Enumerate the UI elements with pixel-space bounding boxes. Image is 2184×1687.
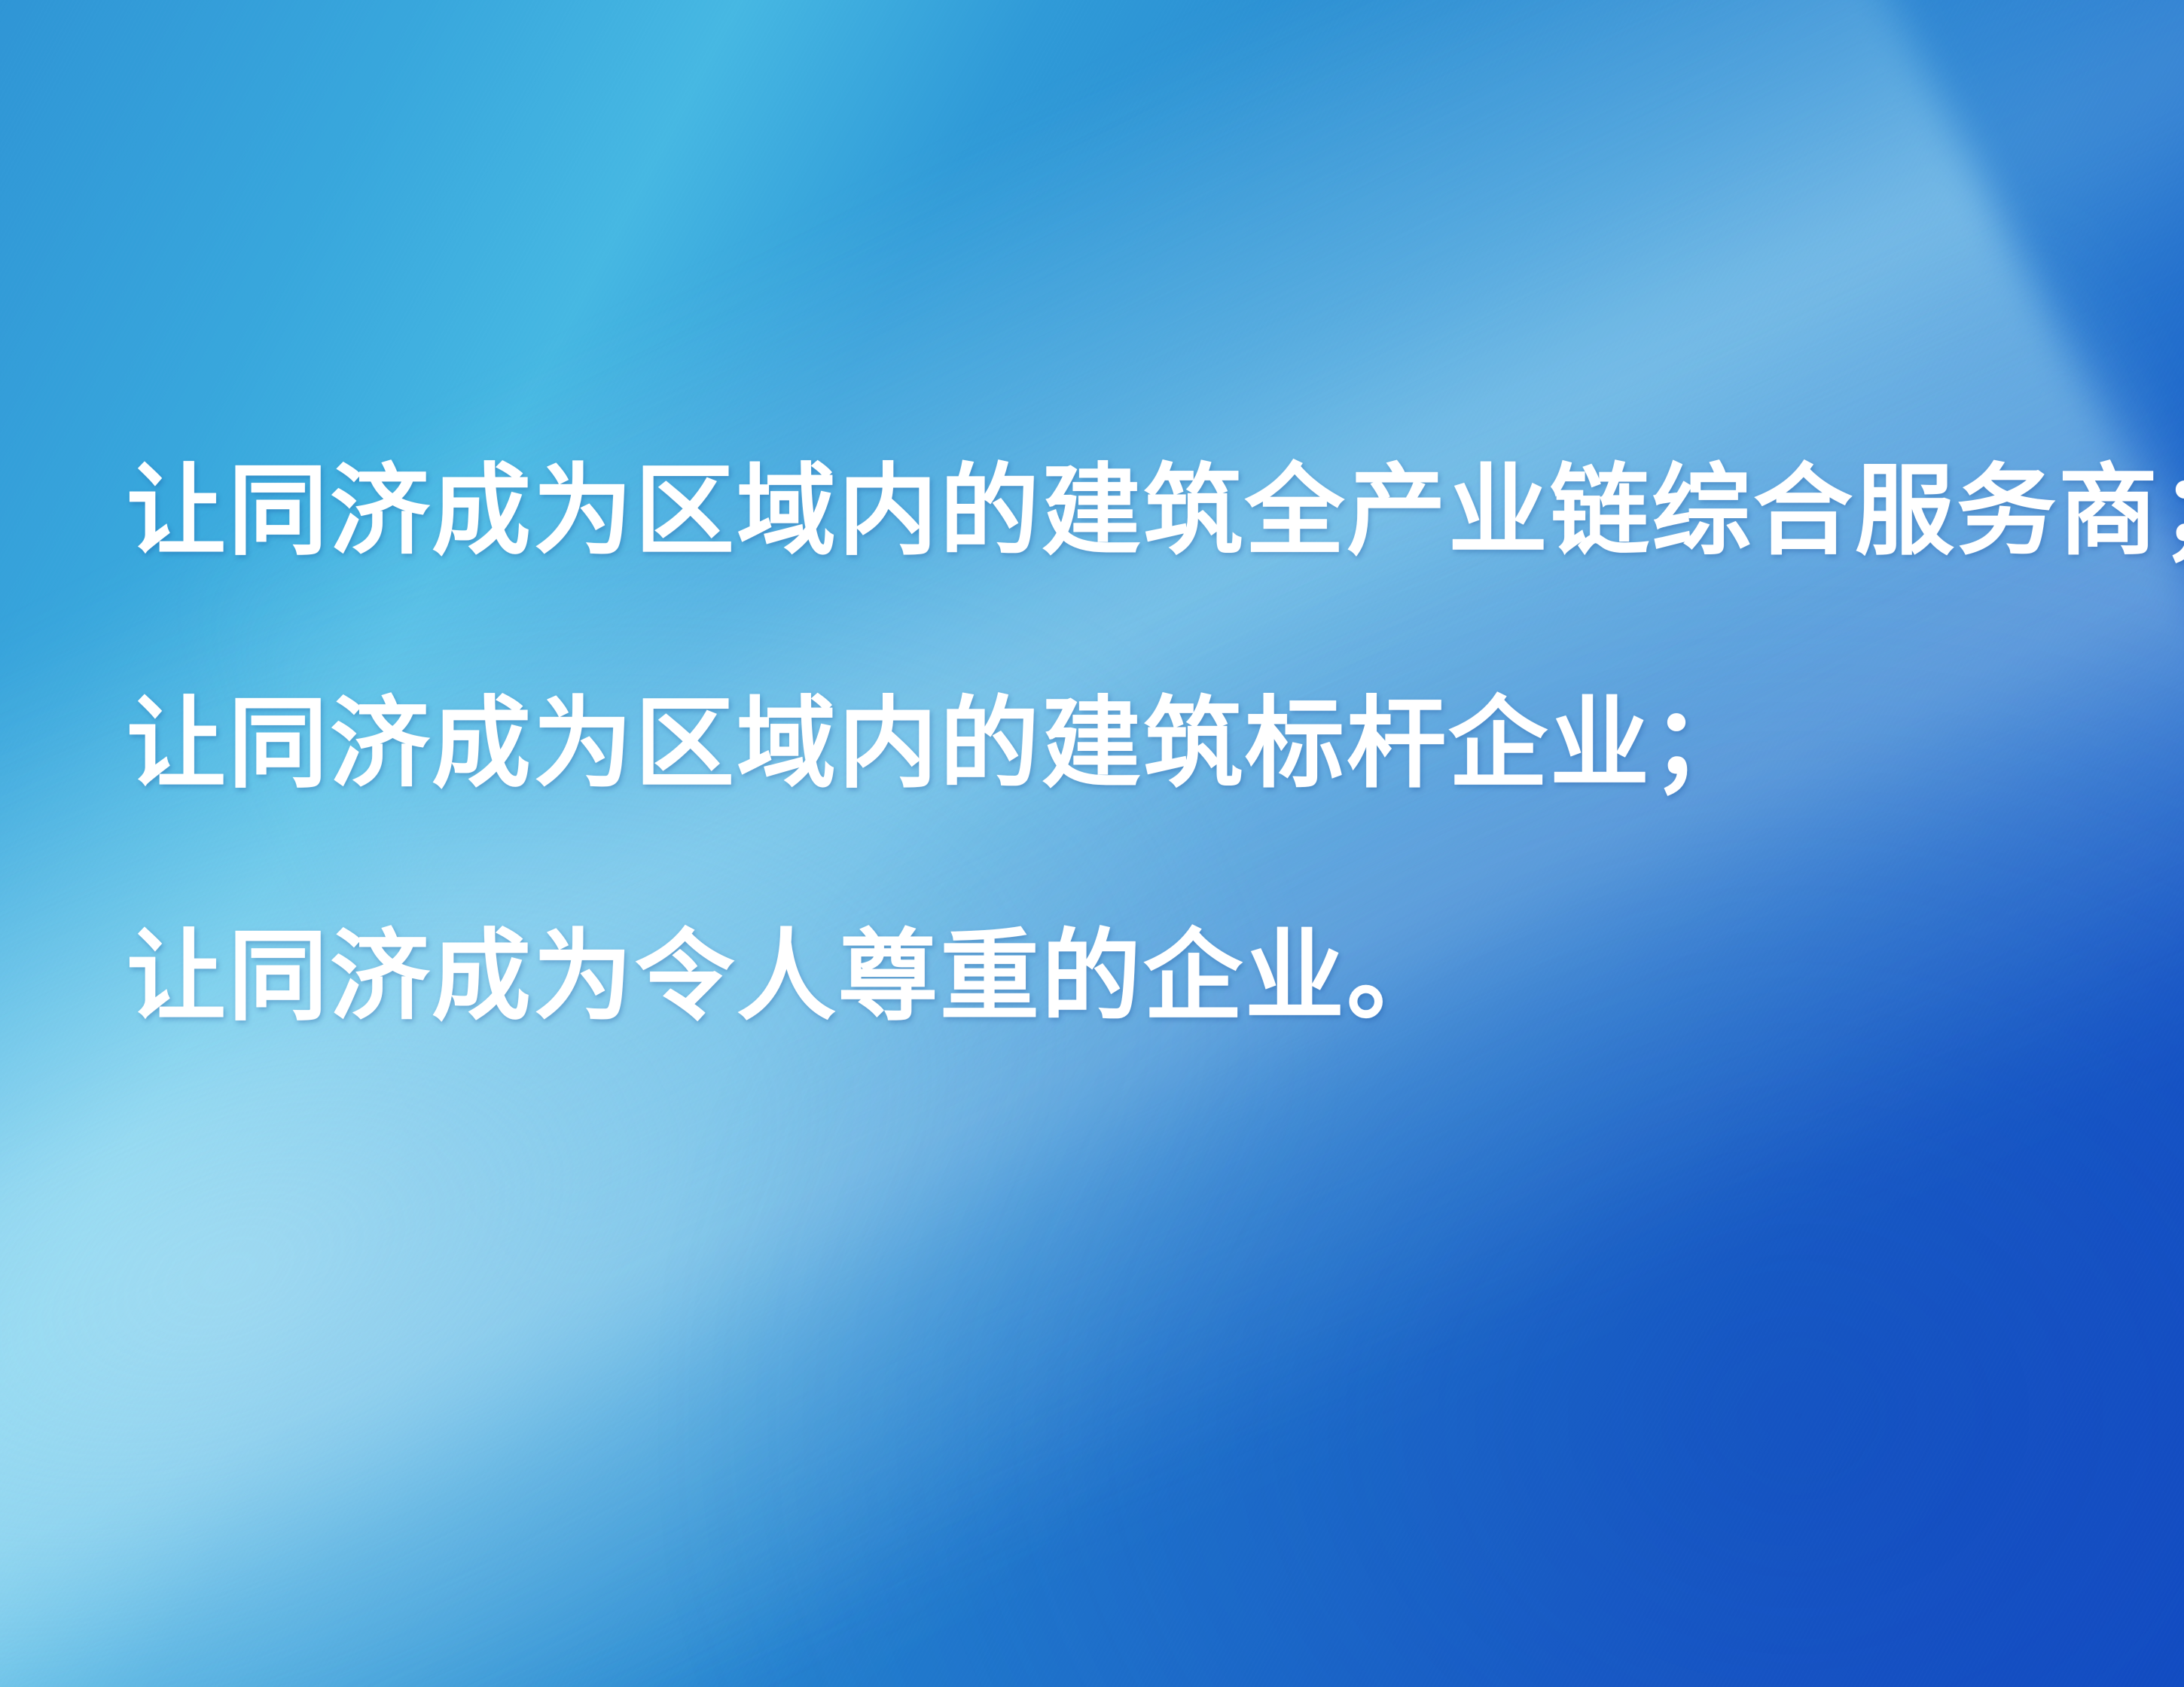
slide-text-line-2: 让同济成为区域内的建筑标杆企业； — [127, 688, 2100, 801]
slide-text-line-3: 让同济成为令人尊重的企业。 — [127, 920, 2100, 1033]
slide-text-block: 让同济成为区域内的建筑全产业链综合服务商； 让同济成为区域内的建筑标杆企业； 让… — [127, 455, 2100, 1033]
slide-text-line-1: 让同济成为区域内的建筑全产业链综合服务商； — [127, 455, 2100, 568]
slide-canvas: 让同济成为区域内的建筑全产业链综合服务商； 让同济成为区域内的建筑标杆企业； 让… — [0, 0, 2184, 1687]
